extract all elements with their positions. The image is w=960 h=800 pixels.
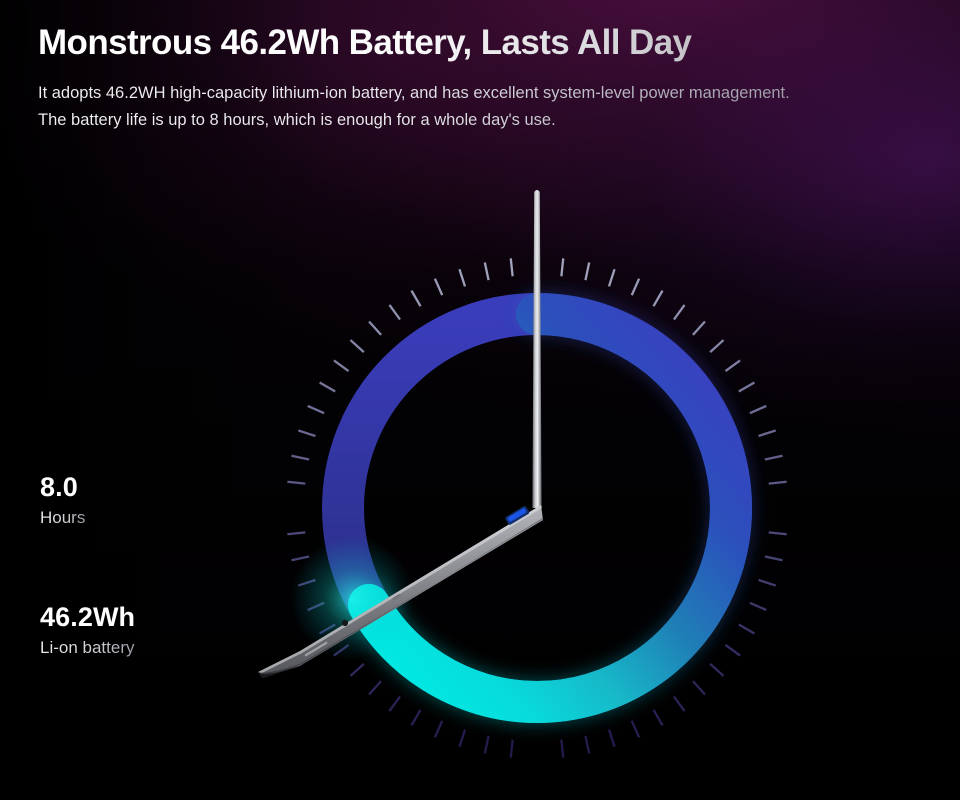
gauge-tick [308,406,324,413]
gauge-tick [369,321,381,334]
gauge-tick [298,430,315,436]
gauge-tick [485,736,489,754]
stat-battery-capacity: 46.2Wh Li-on battery [40,602,135,658]
gauge-tick [693,681,705,694]
gauge-tick [750,603,766,610]
gauge-tick [561,258,563,276]
battery-feature-panel: Monstrous 46.2Wh Battery, Lasts All Day … [0,0,960,800]
gauge-tick [585,262,589,280]
gauge-tick [287,532,305,534]
gauge-tick [693,321,705,334]
gauge-tick [674,305,685,320]
stat-battery-life: 8.0 Hours [40,472,85,528]
gauge-tick [726,645,741,656]
gauge-tick [750,406,766,413]
stat-value: 8.0 [40,472,85,502]
gauge-tick [511,740,513,758]
gauge-tick [609,269,615,286]
gauge-tick [769,482,787,484]
gauge-tick [674,697,685,712]
gauge-tick [726,360,741,371]
gauge-tick [320,383,336,392]
gauge-tick [412,710,421,726]
gauge-tick [511,258,513,276]
gauge-tick [759,430,776,436]
gauge-tick [369,681,381,694]
gauge-tick [710,664,723,676]
gauge-tick [435,279,442,295]
gauge-tick [334,360,349,371]
gauge-tick [291,456,309,460]
gauge-tick [739,383,755,392]
feature-text-block: Monstrous 46.2Wh Battery, Lasts All Day … [38,22,898,134]
gauge-tick [765,556,783,560]
gauge-tick [759,580,776,586]
gauge-tick [350,664,363,676]
gauge-tick [654,710,663,726]
gauge-tick [412,291,421,307]
gauge-tick [350,340,363,352]
gauge-tick [739,625,755,634]
stat-label: Hours [40,507,85,528]
gauge-tick [632,721,639,737]
gauge-tick [459,269,465,286]
gauge-tick [561,740,563,758]
gauge-tick [769,532,787,534]
gauge-tick [632,279,639,295]
gauge-tick [609,730,615,747]
gauge-tick [710,340,723,352]
gauge-tick [389,697,400,712]
gauge-tick [287,482,305,484]
gauge-tick [485,262,489,280]
gauge-tick [654,291,663,307]
stat-value: 46.2Wh [40,602,135,632]
gauge-tick [389,305,400,320]
stat-label: Li-on battery [40,637,135,658]
feature-description: It adopts 46.2WH high-capacity lithium-i… [38,80,798,133]
page-title: Monstrous 46.2Wh Battery, Lasts All Day [38,22,898,63]
gauge-tick [459,730,465,747]
gauge-tick [435,721,442,737]
gauge-arc-end-glow [290,536,414,660]
gauge-tick [765,456,783,460]
gauge-tick [585,736,589,754]
